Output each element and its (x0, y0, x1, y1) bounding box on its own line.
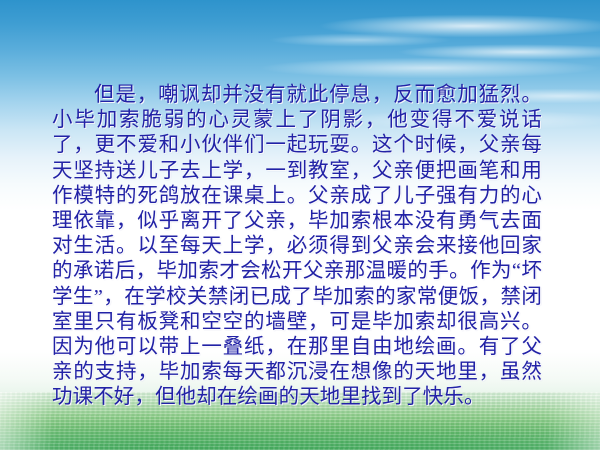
presentation-slide: 但是，嘲讽却并没有就此停息，反而愈加猛烈。小毕加索脆弱的心灵蒙上了阴影，他变得不… (0, 0, 600, 450)
slide-body-paragraph: 但是，嘲讽却并没有就此停息，反而愈加猛烈。小毕加索脆弱的心灵蒙上了阴影，他变得不… (52, 83, 542, 411)
